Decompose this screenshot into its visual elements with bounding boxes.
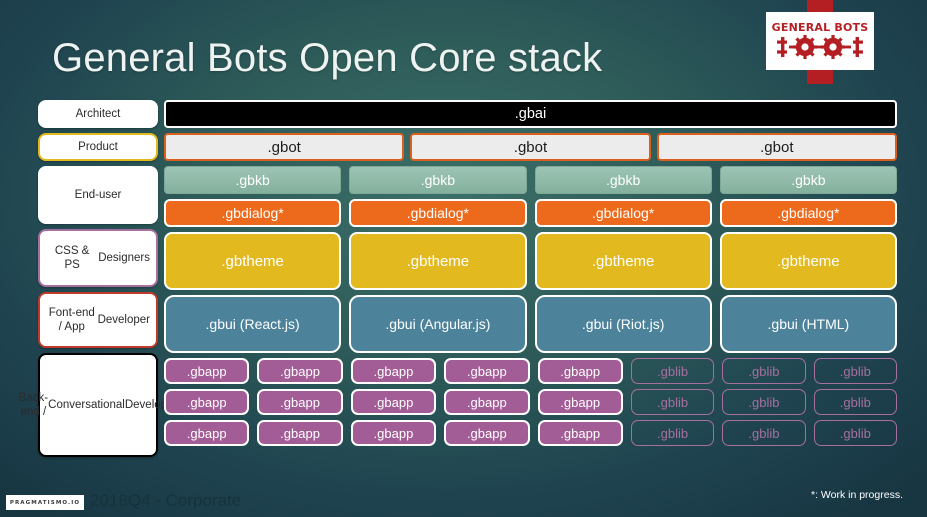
stack-cell-gbtheme[interactable]: .gbtheme <box>535 232 712 290</box>
role-label: Font-end / AppDeveloper <box>38 292 158 348</box>
role-label: End-user <box>38 166 158 224</box>
gbkb-row: .gbkb.gbkb.gbkb.gbkb <box>164 166 897 194</box>
role-label-line: Designers <box>98 251 150 265</box>
pragmatismo-logo: PRAGMATISMO.IO <box>6 495 84 510</box>
stack-cell-gbdialog[interactable]: .gbdialog* <box>164 199 341 227</box>
role-label-line: Font-end / App <box>46 306 98 335</box>
gbapp-row-2: .gbapp.gbapp.gbapp.gbapp.gbapp.gblib.gbl… <box>164 389 897 415</box>
role-label-line: Developer <box>98 313 150 327</box>
stack-cell-gbapp[interactable]: .gbapp <box>351 420 436 446</box>
stack-cell-gbot[interactable]: .gbot <box>164 133 404 161</box>
gbot-row: .gbot.gbot.gbot <box>164 133 897 161</box>
stack-cell-gbdialog[interactable]: .gbdialog* <box>535 199 712 227</box>
stack-cell-gbui[interactable]: .gbui (HTML) <box>720 295 897 353</box>
gbtheme-row: .gbtheme.gbtheme.gbtheme.gbtheme <box>164 232 897 290</box>
stack-cell-gbot[interactable]: .gbot <box>657 133 897 161</box>
footer-caption: 2018Q4 - Corporate <box>90 491 241 511</box>
gbui-row: .gbui (React.js).gbui (Angular.js).gbui … <box>164 295 897 353</box>
stack-cell-gblib[interactable]: .gblib <box>722 389 805 415</box>
role-label-line: Product <box>78 140 118 154</box>
stack-cell-gbtheme[interactable]: .gbtheme <box>349 232 526 290</box>
stack-cell-gblib[interactable]: .gblib <box>722 420 805 446</box>
role-label-column: ArchitectProductEnd-userCSS & PSDesigner… <box>38 100 158 462</box>
stack-cell-gbui[interactable]: .gbui (Riot.js) <box>535 295 712 353</box>
stack-cell-gbui[interactable]: .gbui (Angular.js) <box>349 295 526 353</box>
stack-cell-gbapp[interactable]: .gbapp <box>164 389 249 415</box>
stack-cell-gbot[interactable]: .gbot <box>410 133 650 161</box>
stack-cell-gblib[interactable]: .gblib <box>814 389 897 415</box>
stack-cell-gbdialog[interactable]: .gbdialog* <box>720 199 897 227</box>
stack-diagram: ArchitectProductEnd-userCSS & PSDesigner… <box>0 100 927 482</box>
stack-cell-gbapp[interactable]: .gbapp <box>444 358 529 384</box>
stack-cell-gbkb[interactable]: .gbkb <box>535 166 712 194</box>
logo-wordmark: GENERAL BOTS <box>772 22 869 33</box>
role-label-line: Conversational <box>48 398 125 412</box>
page-title: General Bots Open Core stack <box>52 36 602 81</box>
stack-cell-gbtheme[interactable]: .gbtheme <box>164 232 341 290</box>
stack-cell-gblib[interactable]: .gblib <box>814 358 897 384</box>
stack-cell-gbapp[interactable]: .gbapp <box>444 389 529 415</box>
stack-cell-gblib[interactable]: .gblib <box>631 358 714 384</box>
gbai-row: .gbai <box>164 100 897 128</box>
stack-cell-gbkb[interactable]: .gbkb <box>720 166 897 194</box>
stack-cell-gbapp[interactable]: .gbapp <box>351 389 436 415</box>
role-label: Architect <box>38 100 158 128</box>
gbapp-row-1: .gbapp.gbapp.gbapp.gbapp.gbapp.gblib.gbl… <box>164 358 897 384</box>
role-label-line: End-user <box>75 188 122 202</box>
stack-cell-gbkb[interactable]: .gbkb <box>349 166 526 194</box>
stack-cell-gbtheme[interactable]: .gbtheme <box>720 232 897 290</box>
gears-mark-icon <box>777 34 863 60</box>
gbapp-row-3: .gbapp.gbapp.gbapp.gbapp.gbapp.gblib.gbl… <box>164 420 897 446</box>
stack-cell-gblib[interactable]: .gblib <box>631 389 714 415</box>
stack-cell-gblib[interactable]: .gblib <box>722 358 805 384</box>
stack-cell-gbapp[interactable]: .gbapp <box>164 358 249 384</box>
role-label-line: CSS & PS <box>46 244 98 273</box>
pragmatismo-wordmark: PRAGMATISMO.IO <box>10 500 80 506</box>
stack-cell-gbui[interactable]: .gbui (React.js) <box>164 295 341 353</box>
general-bots-logo: GENERAL BOTS <box>766 12 874 70</box>
stack-cell-gbai[interactable]: .gbai <box>164 100 897 128</box>
stack-cell-gbapp[interactable]: .gbapp <box>257 389 342 415</box>
role-label: CSS & PSDesigners <box>38 229 158 287</box>
stack-cell-gbapp[interactable]: .gbapp <box>351 358 436 384</box>
gbdialog-row: .gbdialog*.gbdialog*.gbdialog*.gbdialog* <box>164 199 897 227</box>
stack-cell-gbapp[interactable]: .gbapp <box>538 358 623 384</box>
stack-cell-gbapp[interactable]: .gbapp <box>164 420 249 446</box>
stack-cell-gblib[interactable]: .gblib <box>631 420 714 446</box>
stack-cell-gblib[interactable]: .gblib <box>814 420 897 446</box>
stack-cell-gbapp[interactable]: .gbapp <box>444 420 529 446</box>
stack-cell-gbkb[interactable]: .gbkb <box>164 166 341 194</box>
work-in-progress-note: *: Work in progress. <box>811 489 903 501</box>
stack-cell-gbapp[interactable]: .gbapp <box>257 420 342 446</box>
role-label: Product <box>38 133 158 161</box>
role-label-line: Architect <box>76 107 121 121</box>
role-label-line: Back-end / <box>19 391 48 420</box>
stack-cell-gbdialog[interactable]: .gbdialog* <box>349 199 526 227</box>
stack-cell-gbapp[interactable]: .gbapp <box>538 389 623 415</box>
stack-cell-gbapp[interactable]: .gbapp <box>538 420 623 446</box>
slide-canvas: GENERAL BOTS <box>0 0 927 517</box>
stack-rows: .gbai.gbot.gbot.gbot.gbkb.gbkb.gbkb.gbkb… <box>164 100 897 451</box>
stack-cell-gbapp[interactable]: .gbapp <box>257 358 342 384</box>
role-label: Back-end /ConversationalDeveloper <box>38 353 158 457</box>
